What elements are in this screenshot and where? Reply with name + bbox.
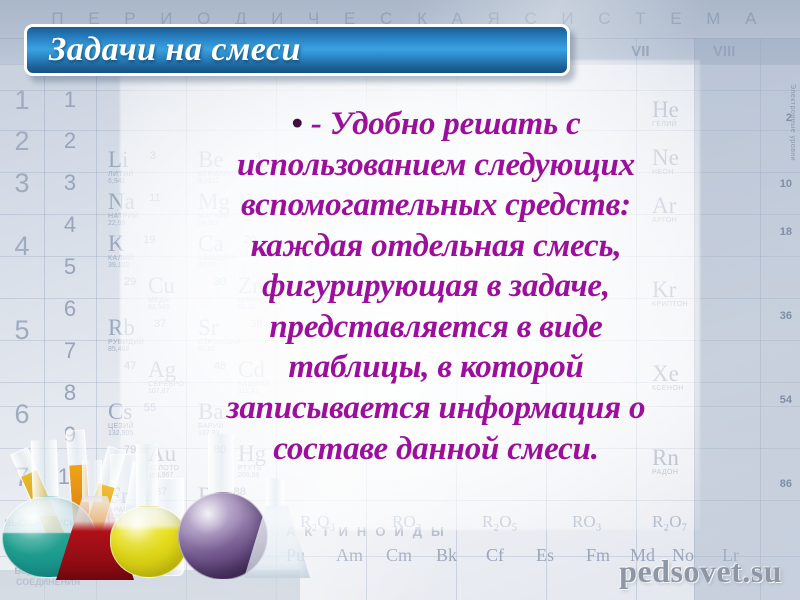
site-watermark: pedsovet.su [619,553,782,590]
body-line-8: записывается информация о [96,388,776,429]
bullet-icon: • [292,106,303,142]
body-line-7: таблицы, в которой [96,347,776,388]
period-cell: 1 [0,80,44,120]
flask-cone [244,506,310,578]
body-line-3: вспомогательных средств: [96,185,776,226]
element-symbol: Cm [386,546,412,564]
erlenmeyer-flask-clear [244,472,310,578]
body-line-5: фигурирующая в задаче, [96,266,776,307]
element-symbol: Fm [586,546,610,564]
presentation-slide: П Е Р И О Д И Ч Е С К А Я С И С Т Е М А … [0,0,800,600]
element-cell-cm: Cm [386,546,412,564]
element-symbol: Cf [486,546,504,564]
electron-levels-note: Электронные уровни [789,84,796,161]
banner-body: Задачи на смеси [24,24,570,76]
element-cell-cf: Cf [486,546,504,564]
row-cell: 3 [44,162,96,204]
element-cell-fm: Fm [586,546,610,564]
body-line-2: использованием следующих [96,145,776,186]
row-cell: 1 [44,80,96,120]
body-line-6: представляется в виде [96,307,776,348]
body-line-1: • - Удобно решать с [96,104,776,145]
row-cell: 5 [44,246,96,288]
body-line-text: - Удобно решать с [311,106,581,142]
slide-body-text: • - Удобно решать с использованием следу… [96,104,776,469]
slide-title-banner[interactable]: Задачи на смеси [24,24,570,76]
row-cell: 6 [44,288,96,330]
period-cell: 2 [0,120,44,162]
row-cell: 7 [44,330,96,372]
period-cell: 4 [0,204,44,288]
noble-number: 86 [780,478,792,490]
element-cell-am: Am [336,546,363,564]
element-symbol: Am [336,546,363,564]
body-line-9: составе данной смеси. [96,429,776,470]
flask-bulb [110,506,188,578]
element-symbol: Bk [436,546,457,564]
noble-number: 10 [780,178,792,190]
noble-number: 18 [780,226,792,238]
element-cell-es: Es [536,546,554,564]
slide-title-text: Задачи на смеси [27,31,301,69]
body-line-4: каждая отдельная смесь, [96,226,776,267]
period-cell: 3 [0,162,44,204]
row-cell: 4 [44,204,96,246]
period-cell: 5 [0,288,44,372]
noble-number: 36 [780,310,792,322]
noble-number: 54 [780,394,792,406]
element-symbol: Es [536,546,554,564]
element-cell-bk: Bk [436,546,457,564]
row-cell: 2 [44,120,96,162]
row-cell: 8 [44,372,96,414]
